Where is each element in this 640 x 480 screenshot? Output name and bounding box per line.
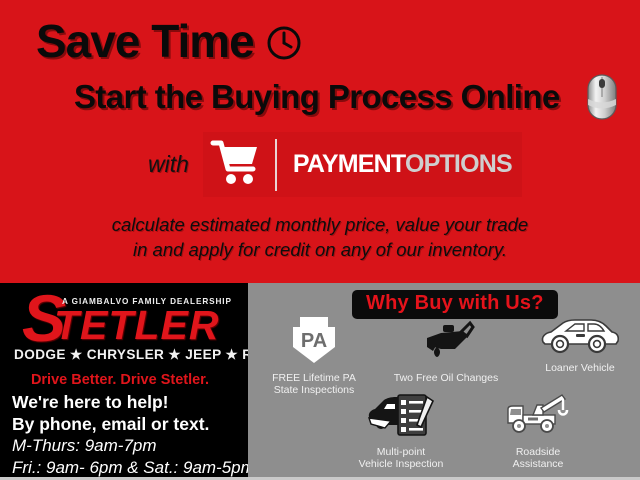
hours-line-1: M-Thurs: 9am-7pm — [12, 435, 248, 457]
why-buy-panel: Why Buy with Us? PA FREE Lifetime PA Sta… — [248, 283, 640, 480]
headline-save-time: Save Time — [36, 14, 302, 72]
pa-keystone-icon: PA — [252, 315, 376, 369]
dealer-contact-block: We're here to help! By phone, email or t… — [12, 391, 248, 479]
feature-pa-label-1: FREE Lifetime PA — [272, 372, 356, 384]
feature-loaner-vehicle: Loaner Vehicle — [520, 315, 640, 374]
payment-options-logo: PAYMENTOPTIONS — [203, 132, 522, 197]
feature-pa-inspections: PA FREE Lifetime PA State Inspections — [252, 315, 376, 397]
payment-options-wordmark: PAYMENTOPTIONS — [293, 150, 512, 179]
subcopy-line-2: in and apply for credit on any of our in… — [0, 237, 640, 262]
logo-divider — [275, 139, 277, 191]
promo-header-banner: Save Time Start the Buying Process Onlin… — [0, 0, 640, 283]
computer-mouse-icon — [586, 73, 618, 126]
hours-line-2: Fri.: 9am- 6pm & Sat.: 9am-5pm — [12, 457, 248, 479]
feature-oil-changes: Two Free Oil Changes — [378, 319, 514, 384]
feature-oil-label-1: Two Free Oil Changes — [394, 372, 498, 384]
contact-line-2: By phone, email or text. — [12, 413, 248, 435]
wordmark-options: OPTIONS — [405, 150, 512, 178]
svg-text:PA: PA — [301, 330, 327, 352]
car-icon — [520, 315, 640, 359]
inspection-checklist-icon — [326, 391, 476, 443]
feature-multipoint-inspection: Multi-point Vehicle Inspection — [326, 391, 476, 471]
feature-loaner-label-1: Loaner Vehicle — [545, 362, 614, 374]
feature-roadside-assistance: Roadside Assistance — [468, 393, 608, 471]
oil-can-icon — [378, 319, 514, 369]
shopping-cart-icon — [209, 136, 261, 193]
logo-name-stetler: TETLER — [54, 305, 219, 346]
feature-multipoint-label-1: Multi-point — [377, 446, 425, 458]
dealer-info-panel: S A GIAMBALVO FAMILY DEALERSHIP TETLER D… — [0, 283, 248, 480]
subcopy-line-1: calculate estimated monthly price, value… — [0, 212, 640, 237]
headline-start-buying: Start the Buying Process Online — [74, 78, 560, 116]
dealership-promo-banner: Save Time Start the Buying Process Onlin… — [0, 0, 640, 480]
feature-multipoint-label-2: Vehicle Inspection — [359, 458, 444, 470]
logo-brand-list: DODGE ★ CHRYSLER ★ JEEP ★ RAM — [14, 347, 234, 363]
tow-truck-icon — [468, 393, 608, 443]
wordmark-payment: PAYMENT — [293, 150, 405, 178]
feature-roadside-label-1: Roadside — [516, 446, 560, 458]
payment-options-lockup: with PAYMENTOPTIONS — [148, 132, 522, 197]
logo-slogan: Drive Better. Drive Stetler. — [0, 372, 240, 388]
feature-roadside-label-2: Assistance — [513, 458, 564, 470]
promo-subcopy: calculate estimated monthly price, value… — [0, 212, 640, 262]
stetler-logo: S A GIAMBALVO FAMILY DEALERSHIP TETLER D… — [0, 287, 248, 367]
headline-save-time-text: Save Time — [36, 15, 254, 67]
with-label: with — [148, 151, 189, 178]
clock-icon — [266, 18, 302, 72]
contact-line-1: We're here to help! — [12, 391, 248, 413]
